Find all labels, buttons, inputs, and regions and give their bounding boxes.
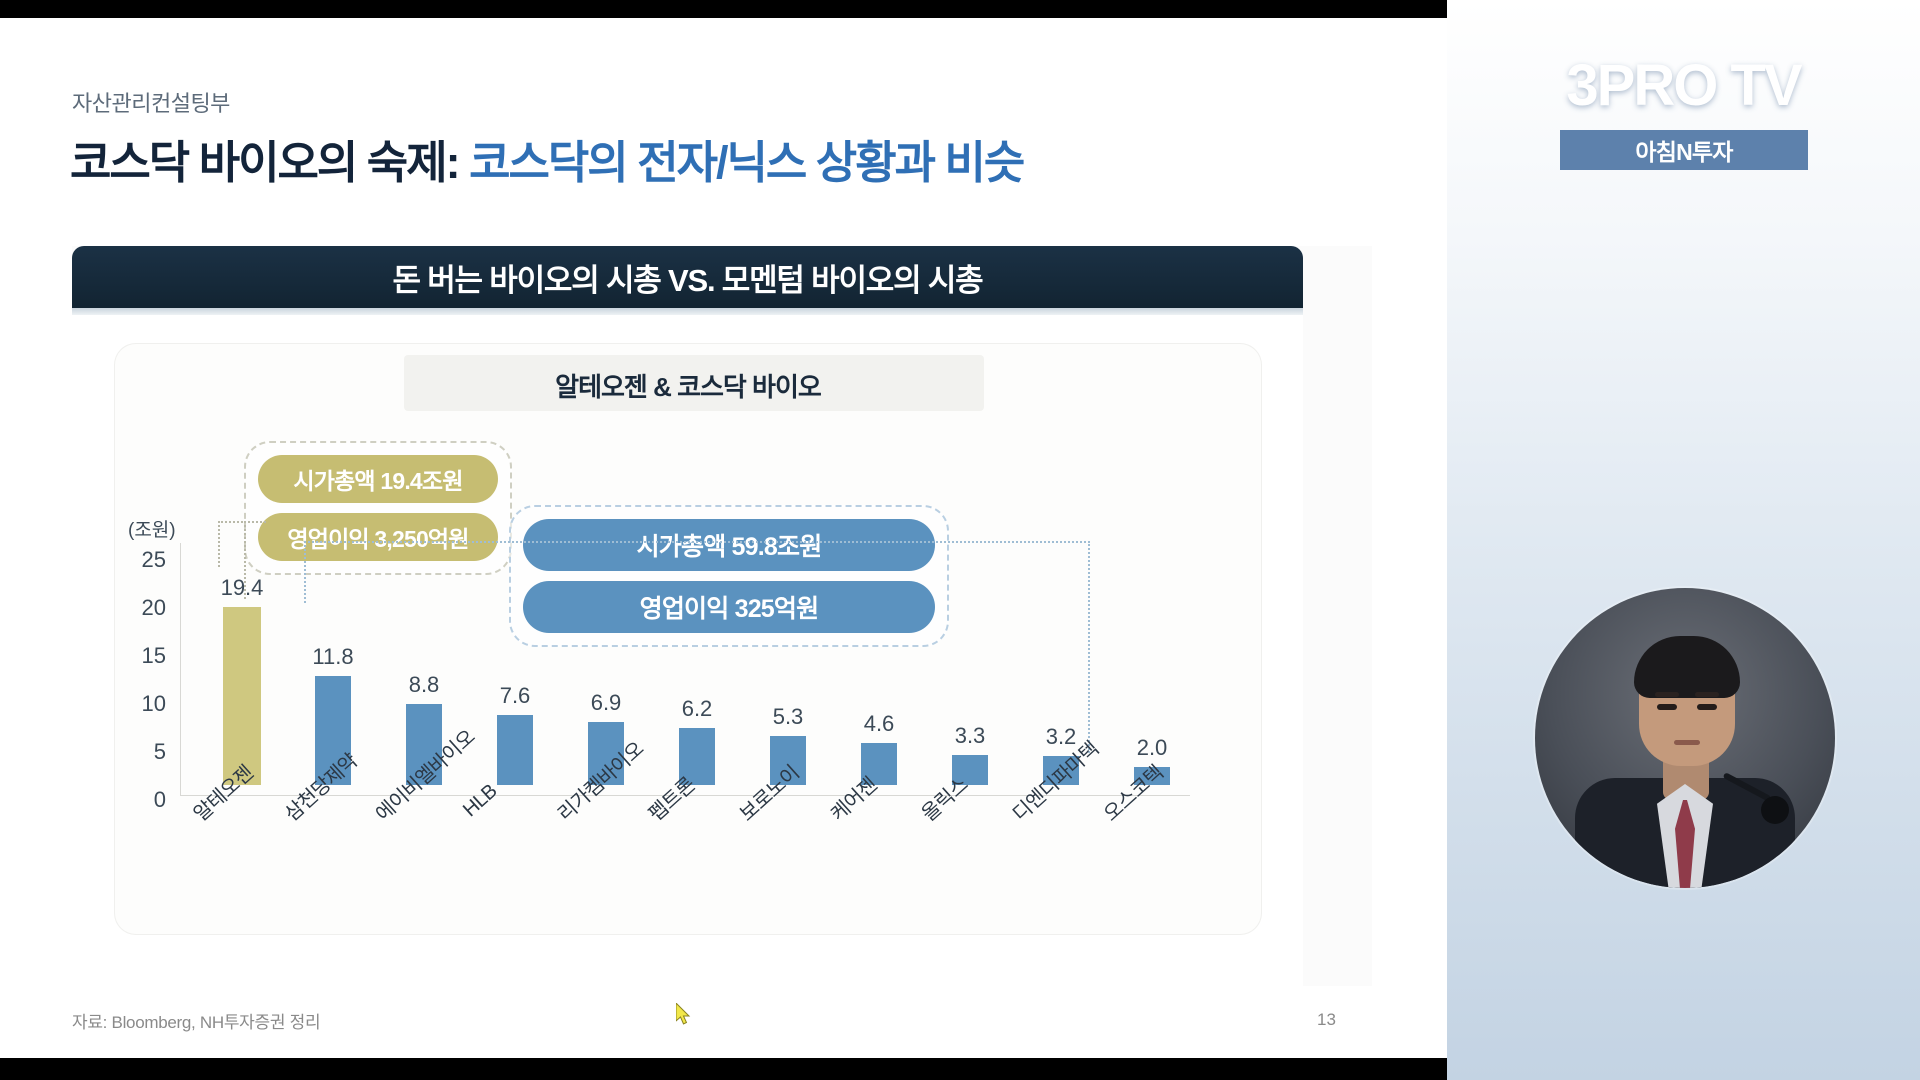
y-tick-10: 10 [132, 691, 166, 717]
bar-3 [497, 715, 533, 785]
connector-blue-top [304, 541, 1090, 543]
speaker-eye-left [1657, 704, 1677, 710]
chart-card: 돈 버는 바이오의 시총 VS. 모멘텀 바이오의 시총 알테오젠 & 코스닥 … [72, 246, 1372, 986]
bar-slot-8: 3.3 [930, 555, 1010, 785]
callout-gold-operating-profit: 영업이익 3,250억원 [258, 513, 498, 561]
chart-header-bar: 돈 버는 바이오의 시총 VS. 모멘텀 바이오의 시총 [72, 246, 1303, 308]
bar-value-1: 11.8 [312, 644, 353, 670]
bar-value-4: 6.9 [591, 690, 622, 716]
bar-value-6: 5.3 [773, 704, 804, 730]
screen: 자산관리컨설팅부 코스닥 바이오의 숙제: 코스닥의 전자/닉스 상황과 비슷 … [0, 0, 1920, 1080]
chart-body: 알테오젠 & 코스닥 바이오 시가총액 19.4조원 영업이익 3,250억원 … [72, 315, 1303, 986]
department-label: 자산관리컨설팅부 [72, 86, 230, 118]
brand-logo: 3PRO TV [1447, 52, 1920, 119]
bar-slot-0: 19.4 [202, 555, 282, 785]
y-axis-unit-label: (조원) [128, 515, 176, 542]
bar-value-5: 6.2 [682, 696, 713, 722]
speaker-eyebrow-left [1655, 692, 1679, 697]
video-panel: 3PRO TV 아침N투자 자산닥 [1447, 0, 1920, 1080]
bar-slot-1: 11.8 [293, 555, 373, 785]
connector-gold-drop [218, 521, 246, 523]
y-tick-20: 20 [132, 595, 166, 621]
bar-value-2: 8.8 [409, 672, 440, 698]
program-badge[interactable]: 아침N투자 [1560, 130, 1808, 170]
bar-value-8: 3.3 [955, 723, 986, 749]
page-number: 13 [1317, 1010, 1336, 1030]
y-tick-5: 5 [132, 739, 166, 765]
speaker-eye-right [1697, 704, 1717, 710]
slide-area: 자산관리컨설팅부 코스닥 바이오의 숙제: 코스닥의 전자/닉스 상황과 비슷 … [0, 0, 1447, 1080]
speaker-avatar [1535, 588, 1835, 888]
speaker-mouth [1674, 740, 1700, 745]
page-title: 코스닥 바이오의 숙제: 코스닥의 전자/닉스 상황과 비슷 [70, 126, 1023, 191]
speaker-hair [1634, 636, 1740, 698]
source-note: 자료: Bloomberg, NH투자증권 정리 [72, 1008, 320, 1033]
y-tick-15: 15 [132, 643, 166, 669]
bar-value-7: 4.6 [864, 711, 895, 737]
chart-header-shadow [72, 308, 1303, 315]
bars-container: 19.4 11.8 8.8 [180, 555, 1190, 785]
chart-subtitle: 알테오젠 & 코스닥 바이오 [114, 367, 1262, 404]
bar-slot-5: 6.2 [657, 555, 737, 785]
bar-slot-10: 2.0 [1112, 555, 1192, 785]
bar-value-10: 2.0 [1137, 735, 1168, 761]
bar-0 [223, 607, 261, 785]
mouse-cursor-icon [676, 1003, 694, 1027]
y-tick-0: 0 [132, 787, 166, 813]
page-title-primary: 코스닥 바이오의 숙제: [70, 137, 469, 188]
x-label-3: HLB [459, 780, 502, 822]
plot-panel: 알테오젠 & 코스닥 바이오 시가총액 19.4조원 영업이익 3,250억원 … [114, 343, 1262, 935]
bar-slot-3: 7.6 [475, 555, 555, 785]
y-tick-25: 25 [132, 547, 166, 573]
speaker-eyebrow-right [1695, 692, 1719, 697]
chart-header-title: 돈 버는 바이오의 시총 VS. 모멘텀 바이오의 시총 [392, 255, 982, 300]
bar-slot-6: 5.3 [748, 555, 828, 785]
page-title-accent: 코스닥의 전자/닉스 상황과 비슷 [469, 137, 1023, 188]
bar-value-3: 7.6 [500, 683, 531, 709]
bar-slot-7: 4.6 [839, 555, 919, 785]
callout-gold-market-cap: 시가총액 19.4조원 [258, 455, 498, 503]
connector-gold-horizontal [244, 521, 266, 523]
microphone-icon [1761, 796, 1789, 824]
bar-value-0: 19.4 [221, 575, 264, 601]
presentation-slide: 자산관리컨설팅부 코스닥 바이오의 숙제: 코스닥의 전자/닉스 상황과 비슷 … [0, 18, 1447, 1058]
